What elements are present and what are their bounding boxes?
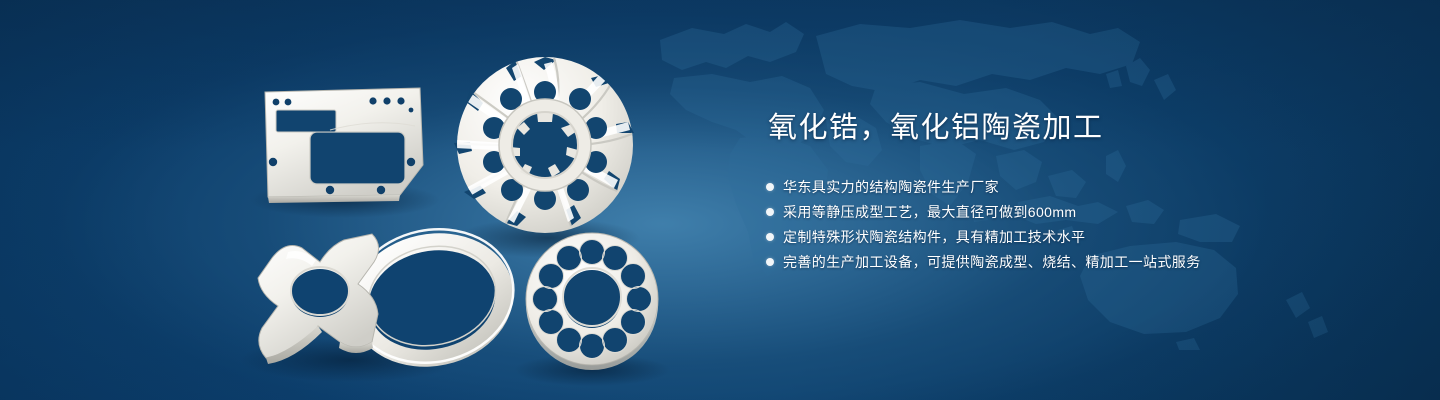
feature-text: 定制特殊形状陶瓷结构件，具有精加工技术水平 — [783, 227, 1085, 247]
bullet-icon — [766, 208, 774, 216]
list-item: 完善的生产加工设备，可提供陶瓷成型、烧结、精加工一站式服务 — [766, 249, 1366, 274]
list-item: 华东具实力的结构陶瓷件生产厂家 — [766, 174, 1366, 199]
product-showcase-image — [0, 0, 720, 400]
ceramic-plate-part — [265, 88, 423, 203]
feature-text: 采用等静压成型工艺，最大直径可做到600mm — [783, 202, 1076, 222]
list-item: 采用等静压成型工艺，最大直径可做到600mm — [766, 199, 1366, 224]
page-title: 氧化锆，氧化铝陶瓷加工 — [768, 108, 1366, 148]
feature-text: 华东具实力的结构陶瓷件生产厂家 — [783, 177, 999, 197]
banner-copy: 氧化锆，氧化铝陶瓷加工 华东具实力的结构陶瓷件生产厂家 采用等静压成型工艺，最大… — [766, 108, 1366, 274]
feature-text: 完善的生产加工设备，可提供陶瓷成型、烧结、精加工一站式服务 — [783, 252, 1201, 272]
ceramic-impeller-part — [454, 57, 634, 233]
bullet-icon — [766, 183, 774, 191]
bullet-icon — [766, 233, 774, 241]
feature-list: 华东具实力的结构陶瓷件生产厂家 采用等静压成型工艺，最大直径可做到600mm 定… — [766, 174, 1366, 274]
promo-banner: 氧化锆，氧化铝陶瓷加工 华东具实力的结构陶瓷件生产厂家 采用等静压成型工艺，最大… — [0, 0, 1440, 400]
list-item: 定制特殊形状陶瓷结构件，具有精加工技术水平 — [766, 224, 1366, 249]
ceramic-perforated-disc-part — [526, 233, 658, 370]
bullet-icon — [766, 258, 774, 266]
